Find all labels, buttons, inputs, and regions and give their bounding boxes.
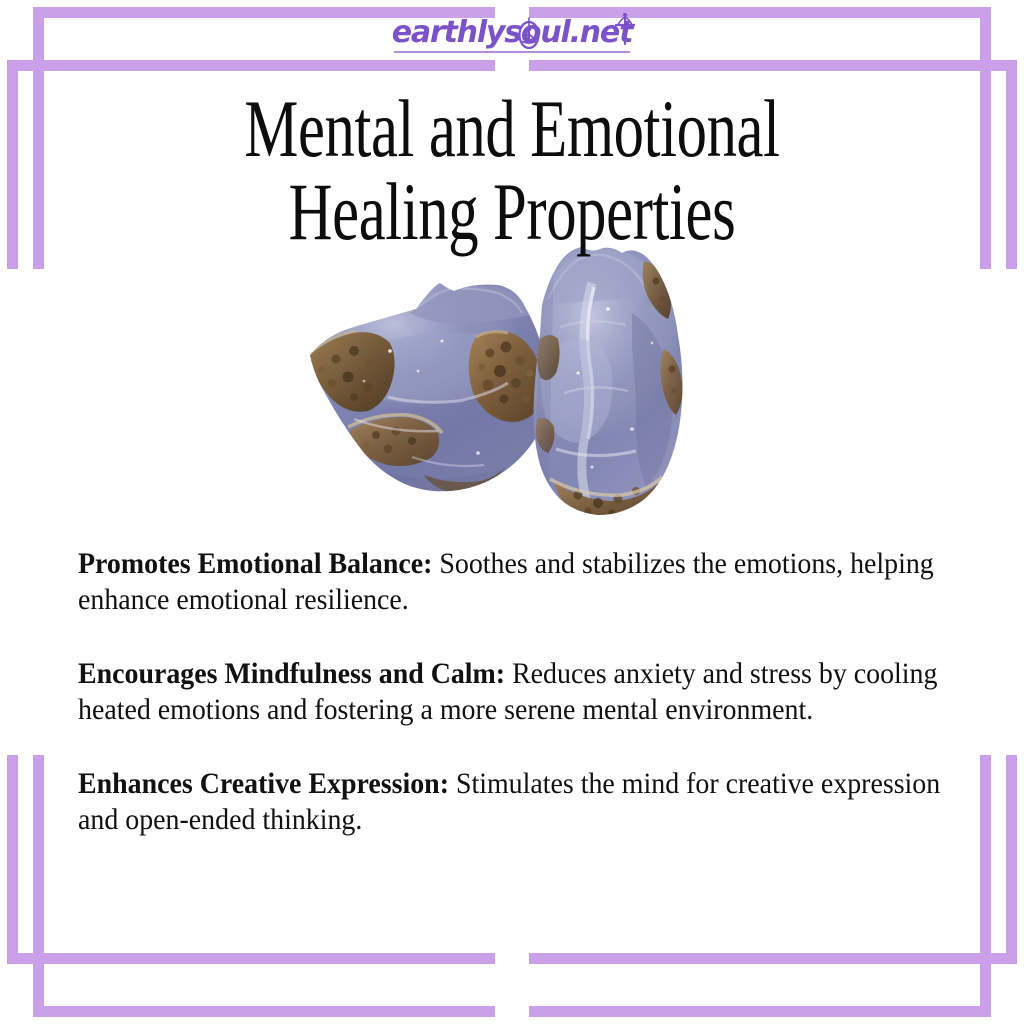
property-item: Encourages Mindfulness and Calm: Reduces… <box>78 656 946 728</box>
site-logo[interactable]: earthlysoul.net <box>0 18 1024 48</box>
frame-top-right-outer-horizontal <box>529 60 1017 71</box>
blue-chalcedony-stones-image <box>292 243 716 538</box>
logo-wrap: earthlysoul.net <box>392 18 632 48</box>
stones-illustration <box>292 243 716 538</box>
frame-bottom-right-outer-vertical <box>1006 755 1017 964</box>
property-lead: Encourages Mindfulness and Calm: <box>78 657 505 690</box>
logo-text: earthlysoul.net <box>392 15 632 50</box>
right-stone <box>512 243 716 538</box>
poster-canvas: earthlysoul.net Mental and Emotional Hea… <box>0 0 1024 1024</box>
healing-properties-list: Promotes Emotional Balance: Soothes and … <box>78 546 946 838</box>
frame-bottom-left-outer-horizontal <box>7 953 495 964</box>
frame-bottom-left-inner-vertical <box>33 755 44 1017</box>
property-item: Enhances Creative Expression: Stimulates… <box>78 766 946 838</box>
frame-bottom-right-inner-horizontal <box>529 1006 991 1017</box>
meditating-figure-icon <box>516 14 542 50</box>
frame-bottom-left-inner-horizontal <box>33 1006 495 1017</box>
logo-underline <box>394 51 630 53</box>
frame-bottom-right-outer-horizontal <box>529 953 1017 964</box>
page-title: Mental and Emotional Healing Properties <box>0 89 1024 252</box>
property-lead: Enhances Creative Expression: <box>78 767 449 800</box>
frame-top-left-outer-horizontal <box>7 60 495 71</box>
property-lead: Promotes Emotional Balance: <box>78 547 432 580</box>
page-title-line-1: Mental and Emotional <box>133 89 891 169</box>
frame-bottom-right-inner-vertical <box>980 755 991 1017</box>
flourish-icon <box>614 11 636 45</box>
frame-bottom-left-outer-vertical <box>7 755 18 964</box>
page-title-line-2: Healing Properties <box>133 172 891 252</box>
property-item: Promotes Emotional Balance: Soothes and … <box>78 546 946 618</box>
